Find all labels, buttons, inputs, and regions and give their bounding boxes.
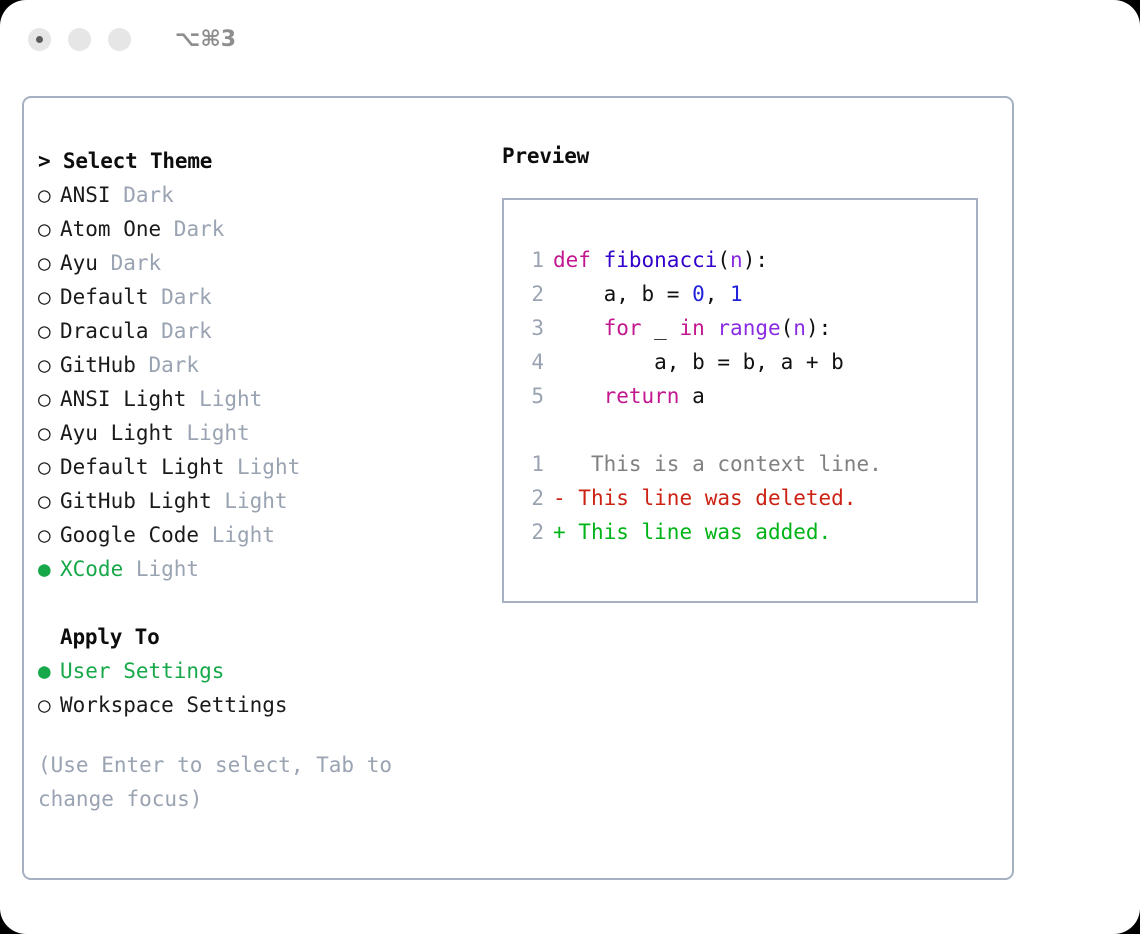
theme-name-label: Default Light bbox=[60, 455, 224, 479]
title-bar: ⌥⌘3 bbox=[0, 0, 1140, 78]
code-token bbox=[705, 316, 718, 340]
keyboard-hint-text: (Use Enter to select, Tab to change focu… bbox=[38, 748, 448, 816]
diff-sign: + bbox=[553, 520, 566, 544]
code-token: return bbox=[604, 384, 680, 408]
radio-unselected-icon[interactable]: ○ bbox=[38, 212, 60, 246]
code-diff-separator bbox=[518, 413, 882, 447]
select-theme-heading: > Select Theme bbox=[38, 144, 478, 178]
line-number: 3 bbox=[518, 311, 544, 345]
radio-unselected-icon[interactable]: ○ bbox=[38, 280, 60, 314]
theme-name-label: GitHub bbox=[60, 353, 136, 377]
code-token: def bbox=[553, 248, 591, 272]
radio-unselected-icon[interactable]: ○ bbox=[38, 688, 60, 722]
radio-unselected-icon[interactable]: ○ bbox=[38, 416, 60, 450]
preview-box: 1def fibonacci(n):2 a, b = 0, 13 for _ i… bbox=[502, 198, 978, 603]
code-line: 2 a, b = 0, 1 bbox=[518, 277, 882, 311]
code-token: ): bbox=[743, 248, 768, 272]
code-line: 1def fibonacci(n): bbox=[518, 243, 882, 277]
code-line: 3 for _ in range(n): bbox=[518, 311, 882, 345]
radio-unselected-icon[interactable]: ○ bbox=[38, 348, 60, 382]
code-token: range bbox=[717, 316, 780, 340]
window-dot-indicator bbox=[36, 36, 43, 43]
line-number: 1 bbox=[518, 447, 544, 481]
radio-unselected-icon[interactable]: ○ bbox=[38, 518, 60, 552]
section-spacer bbox=[38, 586, 478, 620]
theme-variant-label: Dark bbox=[161, 217, 224, 241]
theme-variant-label: Light bbox=[212, 489, 288, 513]
theme-name-label: Dracula bbox=[60, 319, 149, 343]
code-token: ( bbox=[717, 248, 730, 272]
window-close-button[interactable] bbox=[28, 28, 51, 51]
code-token bbox=[553, 384, 604, 408]
radio-unselected-icon[interactable]: ○ bbox=[38, 246, 60, 280]
line-number: 2 bbox=[518, 277, 544, 311]
diff-text: This line was added. bbox=[566, 520, 832, 544]
theme-variant-label: Dark bbox=[149, 285, 212, 309]
theme-list: ○ANSI Dark○Atom One Dark○Ayu Dark○Defaul… bbox=[38, 178, 478, 586]
keyboard-shortcut-label: ⌥⌘3 bbox=[175, 27, 236, 52]
theme-name-label: GitHub Light bbox=[60, 489, 212, 513]
radio-unselected-icon[interactable]: ○ bbox=[38, 178, 60, 212]
radio-selected-icon[interactable]: ● bbox=[38, 552, 60, 586]
code-token: a bbox=[679, 384, 704, 408]
theme-variant-label: Dark bbox=[136, 353, 199, 377]
preview-heading: Preview bbox=[502, 144, 994, 168]
line-number: 2 bbox=[518, 515, 544, 549]
apply-to-option[interactable]: ●User Settings bbox=[38, 654, 478, 688]
code-token: , bbox=[705, 282, 730, 306]
theme-variant-label: Light bbox=[224, 455, 300, 479]
theme-variant-label: Light bbox=[174, 421, 250, 445]
theme-selector-column: > Select Theme ○ANSI Dark○Atom One Dark○… bbox=[38, 144, 478, 816]
diff-line: 2- This line was deleted. bbox=[518, 481, 882, 515]
theme-variant-label: Light bbox=[123, 557, 199, 581]
theme-list-item[interactable]: ○ANSI Dark bbox=[38, 178, 478, 212]
diff-text: This line was deleted. bbox=[566, 486, 857, 510]
theme-list-item[interactable]: ○GitHub Dark bbox=[38, 348, 478, 382]
theme-list-item[interactable]: ○Ayu Light Light bbox=[38, 416, 478, 450]
line-number: 5 bbox=[518, 379, 544, 413]
theme-variant-label: Light bbox=[186, 387, 262, 411]
code-token: 0 bbox=[692, 282, 705, 306]
line-number: 4 bbox=[518, 345, 544, 379]
code-token: _ bbox=[642, 316, 680, 340]
theme-name-label: Atom One bbox=[60, 217, 161, 241]
code-token: in bbox=[679, 316, 704, 340]
code-token: a, b = b, a + b bbox=[553, 350, 844, 374]
radio-selected-icon[interactable]: ● bbox=[38, 654, 60, 688]
code-token: fibonacci bbox=[604, 248, 718, 272]
theme-list-item[interactable]: ○Default Dark bbox=[38, 280, 478, 314]
theme-variant-label: Dark bbox=[98, 251, 161, 275]
radio-unselected-icon[interactable]: ○ bbox=[38, 314, 60, 348]
window-minimize-button[interactable] bbox=[68, 28, 91, 51]
theme-list-item[interactable]: ●XCode Light bbox=[38, 552, 478, 586]
theme-list-item[interactable]: ○Google Code Light bbox=[38, 518, 478, 552]
main-panel: > Select Theme ○ANSI Dark○Atom One Dark○… bbox=[22, 96, 1014, 880]
apply-to-label: User Settings bbox=[60, 659, 224, 683]
preview-column: Preview 1def fibonacci(n):2 a, b = 0, 13… bbox=[502, 144, 994, 603]
code-line: 4 a, b = b, a + b bbox=[518, 345, 882, 379]
theme-list-item[interactable]: ○GitHub Light Light bbox=[38, 484, 478, 518]
code-preview: 1def fibonacci(n):2 a, b = 0, 13 for _ i… bbox=[518, 243, 882, 549]
diff-text: This is a context line. bbox=[566, 452, 882, 476]
window-maximize-button[interactable] bbox=[108, 28, 131, 51]
theme-name-label: Ayu Light bbox=[60, 421, 174, 445]
code-token: 1 bbox=[730, 282, 743, 306]
code-token: for bbox=[604, 316, 642, 340]
code-token: ( bbox=[781, 316, 794, 340]
apply-to-option[interactable]: ○Workspace Settings bbox=[38, 688, 478, 722]
theme-variant-label: Dark bbox=[149, 319, 212, 343]
diff-line: 1 This is a context line. bbox=[518, 447, 882, 481]
theme-list-item[interactable]: ○Default Light Light bbox=[38, 450, 478, 484]
theme-list-item[interactable]: ○ANSI Light Light bbox=[38, 382, 478, 416]
theme-name-label: XCode bbox=[60, 557, 123, 581]
theme-list-item[interactable]: ○Ayu Dark bbox=[38, 246, 478, 280]
diff-line: 2+ This line was added. bbox=[518, 515, 882, 549]
line-number: 1 bbox=[518, 243, 544, 277]
radio-unselected-icon[interactable]: ○ bbox=[38, 382, 60, 416]
code-token bbox=[591, 248, 604, 272]
app-window: ⌥⌘3 > Select Theme ○ANSI Dark○Atom One D… bbox=[0, 0, 1140, 934]
theme-name-label: ANSI Light bbox=[60, 387, 186, 411]
theme-list-item[interactable]: ○Dracula Dark bbox=[38, 314, 478, 348]
code-line: 5 return a bbox=[518, 379, 882, 413]
code-token: n bbox=[793, 316, 806, 340]
apply-to-heading: Apply To bbox=[38, 620, 478, 654]
code-token bbox=[553, 316, 604, 340]
diff-sign: - bbox=[553, 486, 566, 510]
apply-to-list: ●User Settings○Workspace Settings bbox=[38, 654, 478, 722]
theme-name-label: Google Code bbox=[60, 523, 199, 547]
theme-variant-label: Light bbox=[199, 523, 275, 547]
line-number: 2 bbox=[518, 481, 544, 515]
radio-unselected-icon[interactable]: ○ bbox=[38, 484, 60, 518]
code-token: ): bbox=[806, 316, 831, 340]
code-token: a, b = bbox=[553, 282, 692, 306]
theme-name-label: Default bbox=[60, 285, 149, 309]
theme-list-item[interactable]: ○Atom One Dark bbox=[38, 212, 478, 246]
diff-sign bbox=[553, 452, 566, 476]
theme-name-label: Ayu bbox=[60, 251, 98, 275]
theme-variant-label: Dark bbox=[111, 183, 174, 207]
radio-unselected-icon[interactable]: ○ bbox=[38, 450, 60, 484]
theme-name-label: ANSI bbox=[60, 183, 111, 207]
apply-to-label: Workspace Settings bbox=[60, 693, 288, 717]
code-token: n bbox=[730, 248, 743, 272]
